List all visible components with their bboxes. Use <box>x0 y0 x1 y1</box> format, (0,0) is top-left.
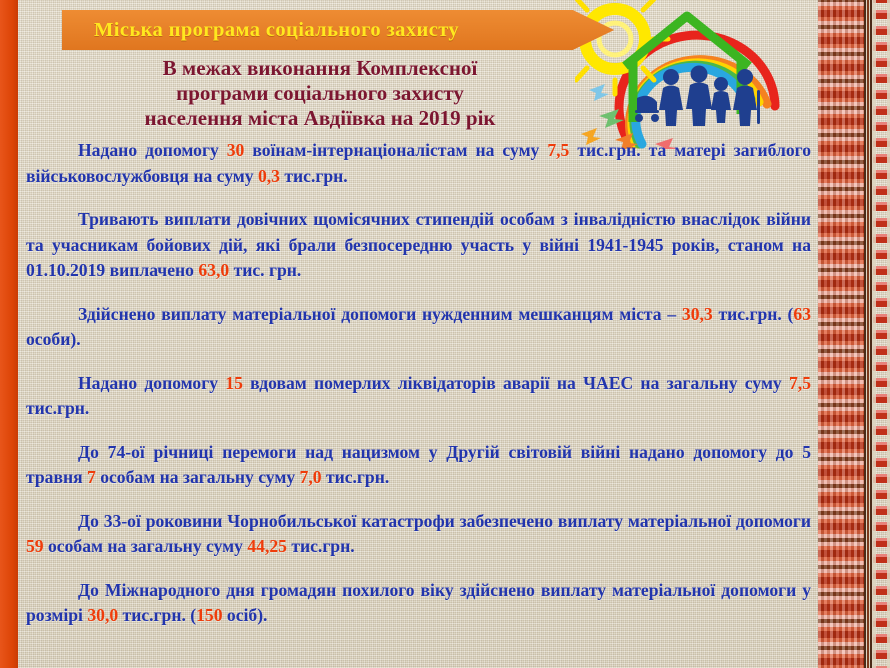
highlight-number: 0,3 <box>258 166 280 186</box>
paragraph-3: Здійснено виплату матеріальної допомоги … <box>26 302 811 353</box>
paragraph-6: До 33-ої роковини Чорнобильської катастр… <box>26 509 811 560</box>
embroidery-stripe <box>864 0 873 668</box>
highlight-number: 30,3 <box>682 304 713 324</box>
report-body: Надано допомогу 30 воїнам-інтернаціоналі… <box>26 138 811 629</box>
program-banner: Міська програма соціального захисту <box>62 10 614 50</box>
paragraph-7: До Міжнародного дня громадян похилого ві… <box>26 578 811 629</box>
page-title: В межах виконання Комплексної програми с… <box>60 56 580 131</box>
paragraph-4: Надано допомогу 15 вдовам померлих лікві… <box>26 371 811 422</box>
highlight-number: 15 <box>225 373 243 393</box>
highlight-number: 63,0 <box>198 260 229 280</box>
highlight-number: 30 <box>227 140 245 160</box>
highlight-number: 7 <box>87 467 96 487</box>
page-title-line-3: населення міста Авдіївка на 2019 рік <box>60 106 580 131</box>
page-title-line-2: програми соціального захисту <box>60 81 580 106</box>
slide: Міська програма соціального захисту В ме… <box>0 0 890 668</box>
left-accent-bar <box>0 0 18 668</box>
paragraph-2: Тривають виплати довічних щомісячних сти… <box>26 207 811 284</box>
highlight-number: 59 <box>26 536 44 556</box>
social-protection-illustration <box>575 0 830 149</box>
highlight-number: 7,0 <box>300 467 322 487</box>
highlight-number: 7,5 <box>547 140 569 160</box>
paragraph-1: Надано допомогу 30 воїнам-інтернаціоналі… <box>26 138 811 189</box>
paragraph-5: До 74-ої річниці перемоги над нацизмом у… <box>26 440 811 491</box>
highlight-number: 63 <box>793 304 811 324</box>
highlight-number: 150 <box>196 605 222 625</box>
highlight-number: 7,5 <box>789 373 811 393</box>
banner-title: Міська програма соціального захисту <box>62 19 459 42</box>
highlight-number: 30,0 <box>87 605 118 625</box>
page-title-line-1: В межах виконання Комплексної <box>60 56 580 81</box>
embroidery-floral-column <box>873 0 890 668</box>
highlight-number: 44,25 <box>247 536 287 556</box>
